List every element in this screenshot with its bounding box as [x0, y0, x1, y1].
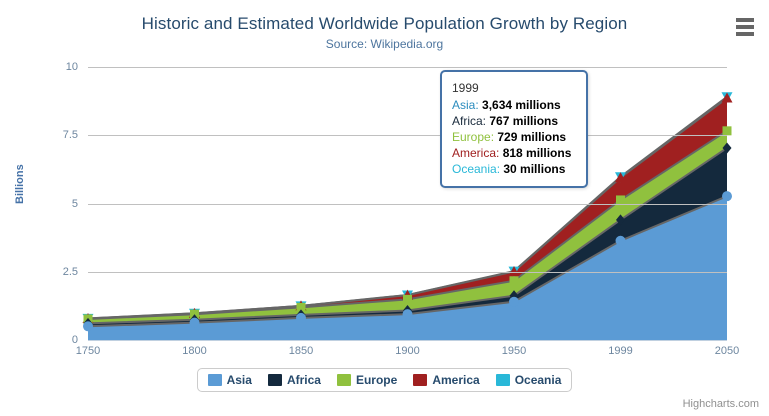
- hamburger-bar-3: [736, 32, 754, 36]
- highcharts-container: Historic and Estimated Worldwide Populat…: [0, 0, 769, 416]
- legend-item-label: Africa: [287, 373, 321, 387]
- data-point-marker[interactable]: [722, 191, 732, 201]
- legend-swatch-icon: [413, 374, 427, 386]
- legend-item-label: Asia: [227, 373, 252, 387]
- chart-subtitle: Source: Wikipedia.org: [0, 37, 769, 51]
- y-axis-tick-label: 7.5: [38, 129, 78, 141]
- data-point-marker[interactable]: [723, 126, 732, 135]
- legend-items: AsiaAfricaEuropeAmericaOceania: [197, 368, 573, 392]
- tooltip-series-name: America:: [452, 146, 503, 160]
- chart-legend: AsiaAfricaEuropeAmericaOceania: [0, 368, 769, 392]
- x-axis-tick-label: 1900: [395, 345, 419, 357]
- data-point-marker[interactable]: [403, 309, 413, 319]
- data-point-marker[interactable]: [510, 276, 519, 285]
- legend-swatch-icon: [208, 374, 222, 386]
- tooltip-series-name: Oceania:: [452, 162, 503, 176]
- tooltip-series-value: 729 millions: [497, 130, 566, 144]
- hamburger-bar-2: [736, 25, 754, 29]
- legend-item-label: America: [432, 373, 479, 387]
- x-axis-tick-label: 1850: [289, 345, 313, 357]
- legend-item-label: Oceania: [515, 373, 562, 387]
- tooltip-series-value: 767 millions: [489, 114, 558, 128]
- x-axis-tick-label: 2050: [715, 345, 739, 357]
- chart-title: Historic and Estimated Worldwide Populat…: [0, 14, 769, 34]
- tooltip-series-value: 3,634 millions: [482, 98, 561, 112]
- data-point-marker[interactable]: [190, 318, 200, 328]
- tooltip-row: Africa: 767 millions: [452, 113, 576, 129]
- x-axis-tick-label: 1999: [608, 345, 632, 357]
- tooltip-rows: Asia: 3,634 millionsAfrica: 767 millions…: [452, 97, 576, 177]
- tooltip-row: Oceania: 30 millions: [452, 161, 576, 177]
- legend-item-america[interactable]: America: [413, 373, 479, 387]
- legend-swatch-icon: [337, 374, 351, 386]
- legend-swatch-icon: [496, 374, 510, 386]
- data-point-marker[interactable]: [403, 295, 412, 304]
- x-axis-line: [88, 340, 727, 341]
- gridline: [88, 135, 727, 136]
- hamburger-bar-1: [736, 18, 754, 22]
- x-axis-tick-label: 1800: [182, 345, 206, 357]
- chart-tooltip: 1999 Asia: 3,634 millionsAfrica: 767 mil…: [440, 70, 588, 188]
- gridline: [88, 204, 727, 205]
- tooltip-row: America: 818 millions: [452, 145, 576, 161]
- plot-area: [88, 67, 727, 340]
- tooltip-series-value: 818 millions: [503, 146, 572, 160]
- tooltip-header: 1999: [452, 80, 576, 96]
- y-axis-tick-label: 0: [38, 334, 78, 346]
- tooltip-row: Europe: 729 millions: [452, 129, 576, 145]
- tooltip-series-name: Africa:: [452, 114, 489, 128]
- y-axis-title: Billions: [14, 164, 26, 204]
- x-axis-tick-label: 1750: [76, 345, 100, 357]
- tooltip-series-value: 30 millions: [503, 162, 565, 176]
- legend-item-asia[interactable]: Asia: [208, 373, 252, 387]
- legend-item-label: Europe: [356, 373, 397, 387]
- data-point-marker[interactable]: [296, 313, 306, 323]
- y-axis-tick-label: 10: [38, 61, 78, 73]
- legend-item-africa[interactable]: Africa: [268, 373, 321, 387]
- legend-swatch-icon: [268, 374, 282, 386]
- y-axis-tick-label: 5: [38, 198, 78, 210]
- legend-item-oceania[interactable]: Oceania: [496, 373, 562, 387]
- tooltip-series-name: Europe:: [452, 130, 497, 144]
- tooltip-row: Asia: 3,634 millions: [452, 97, 576, 113]
- x-axis-tick-label: 1950: [502, 345, 526, 357]
- y-axis-tick-label: 2.5: [38, 266, 78, 278]
- tooltip-series-name: Asia:: [452, 98, 482, 112]
- data-point-marker[interactable]: [616, 236, 626, 246]
- data-point-marker[interactable]: [509, 297, 519, 307]
- legend-item-europe[interactable]: Europe: [337, 373, 397, 387]
- data-point-marker[interactable]: [83, 321, 93, 331]
- gridline: [88, 272, 727, 273]
- y-axis-labels: 02.557.510: [30, 0, 78, 416]
- x-axis-labels: 1750180018501900195019992050: [88, 345, 727, 363]
- hamburger-icon[interactable]: [733, 16, 757, 38]
- gridline: [88, 67, 727, 68]
- credits-label[interactable]: Highcharts.com: [683, 398, 759, 410]
